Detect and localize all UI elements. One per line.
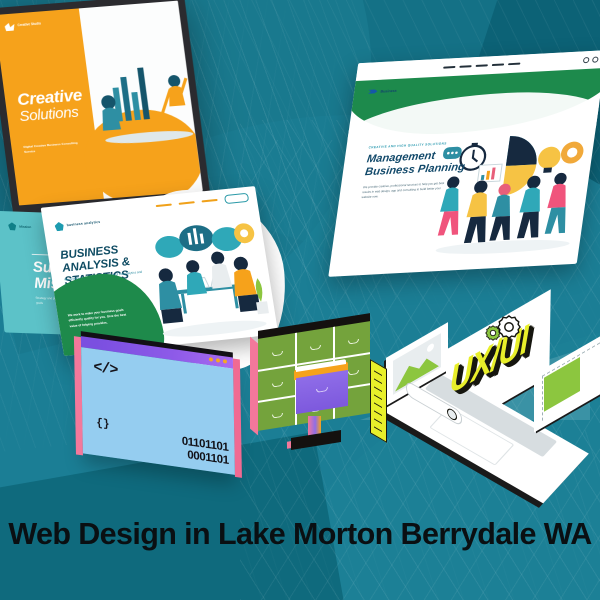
monitor-title: Creative Solutions bbox=[16, 86, 85, 124]
window-controls[interactable] bbox=[583, 57, 599, 64]
brand-label: Business bbox=[380, 88, 397, 93]
monitor-screen-right-panel bbox=[79, 1, 203, 199]
drawer-handle-icon bbox=[310, 345, 321, 351]
window-dot-icon bbox=[592, 57, 599, 63]
uxui-laptop-graphic: UX/UI bbox=[392, 318, 588, 486]
brand-label: business analytics bbox=[66, 220, 100, 227]
nav-cta-button[interactable] bbox=[224, 192, 249, 203]
nav-dash-icon bbox=[507, 63, 519, 66]
monitor-body-text: Digital Creative Business Consulting Ser… bbox=[23, 140, 82, 155]
nav-item[interactable] bbox=[201, 199, 217, 203]
drawer-handle-icon bbox=[272, 382, 283, 388]
drawer-handle-icon bbox=[348, 370, 359, 376]
slider-knob[interactable] bbox=[447, 406, 457, 422]
business-analysis-card: business analytics BUSINESS ANALYSIS & S… bbox=[41, 186, 279, 356]
code-window-graphic: </> {} 01101101 0001101 bbox=[81, 347, 235, 475]
nav-item[interactable] bbox=[156, 204, 172, 208]
window-dot-icon bbox=[209, 357, 213, 362]
monitor-title-line2: Solutions bbox=[19, 104, 86, 125]
creative-brand-logo: Creative Studio bbox=[4, 20, 41, 31]
filing-cabinet-graphic bbox=[258, 330, 378, 448]
brand-mark-icon bbox=[54, 222, 64, 232]
analytics-brand-logo: business analytics bbox=[54, 218, 101, 232]
brand-label: Creative Studio bbox=[17, 23, 41, 28]
monitor-screen: Creative Studio Creative Solutions Digit… bbox=[0, 1, 203, 206]
drawer-handle-icon bbox=[272, 413, 283, 419]
management-title: Management Business Planning bbox=[364, 148, 479, 180]
brand-mark-icon bbox=[4, 23, 15, 32]
window-dot-icon bbox=[216, 358, 220, 363]
page-title: Web Design in Lake Morton Berrydale WA bbox=[8, 517, 591, 552]
white-wave-shape bbox=[341, 87, 600, 141]
window-dot-icon bbox=[223, 359, 227, 364]
nav-dash-icon bbox=[475, 64, 487, 67]
brand-mark-icon bbox=[8, 222, 17, 230]
window-dot-icon bbox=[583, 57, 590, 63]
analysis-blob-text: We work to make your business goals effi… bbox=[68, 307, 134, 329]
ruler-icon bbox=[370, 359, 387, 443]
nav-dash-icon bbox=[491, 63, 503, 66]
management-planning-card: Business CREATIVE AND HIGH QUALITY SOLUT… bbox=[328, 50, 600, 277]
brand-label: Mission bbox=[19, 225, 31, 229]
gear-icon bbox=[496, 314, 522, 340]
cabinet-side-panel bbox=[250, 337, 258, 436]
arrow-mark-icon bbox=[368, 88, 378, 95]
mission-brand-logo: Mission bbox=[8, 222, 32, 231]
window-controls[interactable] bbox=[209, 357, 227, 364]
code-tag-icon: </> bbox=[93, 359, 117, 379]
nav-item[interactable] bbox=[179, 201, 195, 205]
monitor-bezel: Creative Studio Creative Solutions Digit… bbox=[0, 0, 212, 222]
imac-monitor-mockup: Creative Studio Creative Solutions Digit… bbox=[0, 0, 212, 222]
management-body-text: We provide creative, professional servic… bbox=[361, 181, 450, 201]
drawer-handle-icon bbox=[272, 351, 283, 357]
nav-dash-icon bbox=[443, 66, 455, 69]
drawer-handle-icon bbox=[348, 339, 359, 345]
nav-dash-icon bbox=[459, 65, 471, 68]
hero-banner: Creative Studio Creative Solutions Digit… bbox=[0, 0, 600, 600]
drawer-handle-icon bbox=[316, 387, 328, 393]
curly-braces-icon: {} bbox=[96, 417, 109, 431]
management-eyebrow: CREATIVE AND HIGH QUALITY SOLUTIONS bbox=[368, 141, 447, 149]
cabinet-base bbox=[291, 430, 341, 450]
